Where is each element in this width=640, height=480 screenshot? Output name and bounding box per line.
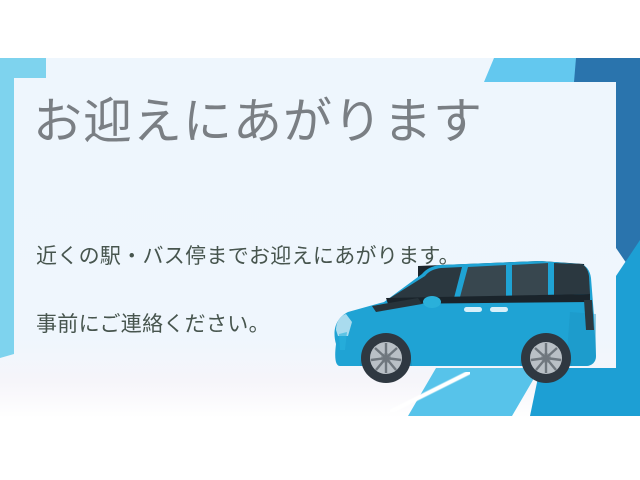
minivan-car-illustration [322,252,614,387]
promo-banner: お迎えにあがります 近くの駅・バス停までお迎えにあがります。 事前にご連絡くださ… [0,0,640,480]
page-title: お迎えにあがります [33,96,483,149]
car-side-mirror [423,296,441,308]
car-front-wheel [361,333,411,383]
car-slide-door-window [512,263,548,296]
car-rear-wheel [521,333,571,383]
car-rear-window [554,263,590,295]
car-door-handle-front [464,307,482,312]
car-door-handle-rear [490,307,508,312]
